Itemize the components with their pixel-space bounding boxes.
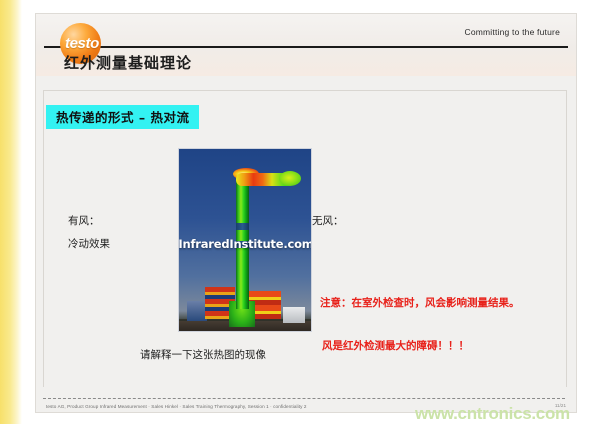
thermal-image: InfraredInstitute.com [178, 148, 312, 332]
label-explain-prompt: 请解释一下这张热图的现像 [140, 347, 266, 362]
section-subtitle: 热传递的形式 – 热对流 [46, 105, 199, 129]
callout-warning: 风是红外检测最大的障碍！！！ [322, 338, 469, 353]
thermal-stack-band-1 [236, 223, 249, 230]
page-title: 红外测量基础理论 [64, 52, 192, 73]
left-edge-strip [0, 0, 22, 424]
photo-watermark: InfraredInstitute.com [178, 237, 312, 251]
brand-tagline: Committing to the future [464, 27, 560, 37]
thermal-plume-tail [279, 171, 301, 186]
logo-wordmark: testo [65, 35, 99, 52]
thermal-building-right [283, 307, 305, 323]
footer-text: testo AG, Product Group Infrared Measure… [46, 404, 307, 409]
label-with-wind: 有风： [68, 213, 100, 228]
label-no-wind: 无风： [312, 213, 344, 228]
callout-note: 注意：在室外检查时，风会影响测量结果。 [320, 295, 520, 310]
header-divider [44, 46, 568, 48]
site-watermark: www.cntronics.com [415, 404, 570, 424]
label-with-wind-effect: 冷动效果 [68, 236, 110, 251]
footer-divider [43, 398, 565, 399]
thermal-building-left [187, 301, 207, 321]
